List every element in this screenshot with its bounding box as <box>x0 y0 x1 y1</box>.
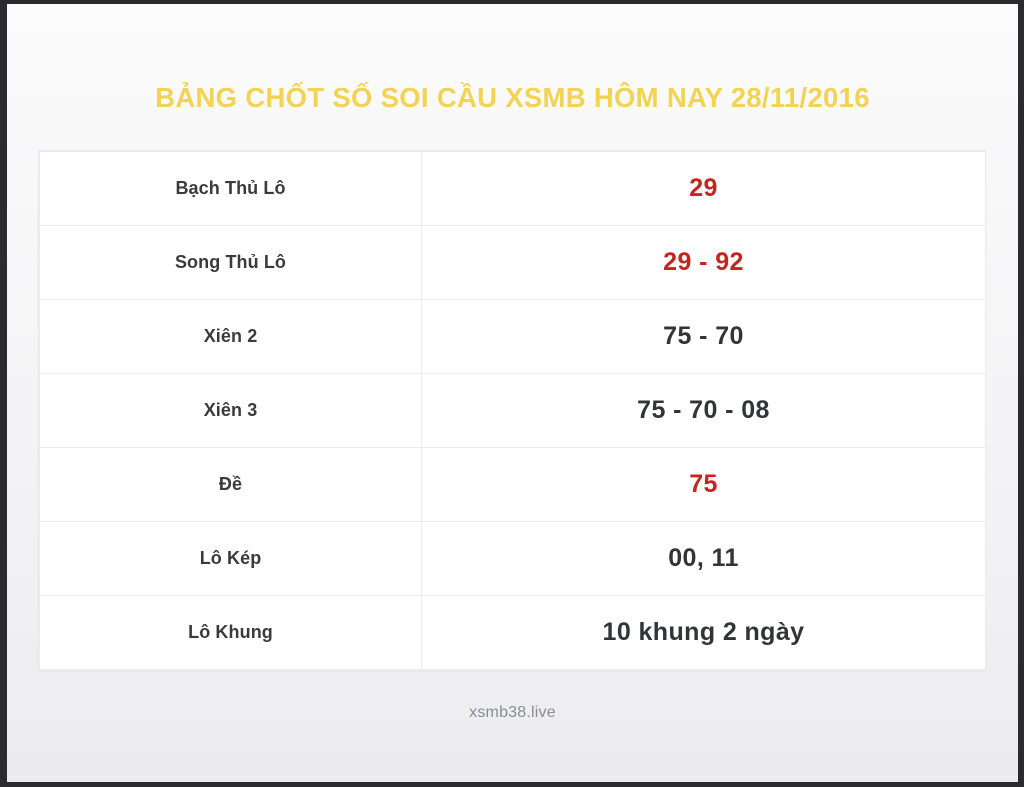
row-value: 00, 11 <box>430 544 977 573</box>
row-value-cell: 75 - 70 <box>422 300 986 374</box>
page-canvas: BẢNG CHỐT SỐ SOI CẦU XSMB HÔM NAY 28/11/… <box>7 4 1018 782</box>
row-label: Lô Khung <box>48 622 413 643</box>
table-row: Đề75 <box>40 448 986 522</box>
table-row: Bạch Thủ Lô29 <box>40 152 986 226</box>
row-label: Lô Kép <box>48 548 413 569</box>
prediction-table: Bạch Thủ Lô29Song Thủ Lô29 - 92Xiên 275 … <box>39 151 986 670</box>
row-label: Xiên 3 <box>48 400 413 421</box>
row-value: 29 - 92 <box>430 248 977 277</box>
page-title: BẢNG CHỐT SỐ SOI CẦU XSMB HÔM NAY 28/11/… <box>155 82 870 114</box>
row-value-cell: 75 - 70 - 08 <box>422 374 986 448</box>
row-label-cell: Song Thủ Lô <box>40 226 422 300</box>
row-label-cell: Lô Khung <box>40 596 422 670</box>
table-row: Lô Khung10 khung 2 ngày <box>40 596 986 670</box>
row-value-cell: 29 <box>422 152 986 226</box>
row-value-cell: 00, 11 <box>422 522 986 596</box>
table-row: Lô Kép00, 11 <box>40 522 986 596</box>
row-label-cell: Xiên 2 <box>40 300 422 374</box>
table-row: Xiên 275 - 70 <box>40 300 986 374</box>
site-watermark: xsmb38.live <box>469 704 556 721</box>
row-label-cell: Bạch Thủ Lô <box>40 152 422 226</box>
row-label-cell: Đề <box>40 448 422 522</box>
table-row: Xiên 375 - 70 - 08 <box>40 374 986 448</box>
row-value-cell: 10 khung 2 ngày <box>422 596 986 670</box>
row-label: Bạch Thủ Lô <box>48 178 413 199</box>
row-value: 10 khung 2 ngày <box>430 618 977 647</box>
footer: xsmb38.live <box>7 704 1018 722</box>
prediction-table-card: Bạch Thủ Lô29Song Thủ Lô29 - 92Xiên 275 … <box>38 150 986 671</box>
image-frame: BẢNG CHỐT SỐ SOI CẦU XSMB HÔM NAY 28/11/… <box>0 0 1024 787</box>
row-value-cell: 75 <box>422 448 986 522</box>
row-label: Xiên 2 <box>48 326 413 347</box>
table-row: Song Thủ Lô29 - 92 <box>40 226 986 300</box>
row-label: Song Thủ Lô <box>48 252 413 273</box>
page-title-container: BẢNG CHỐT SỐ SOI CẦU XSMB HÔM NAY 28/11/… <box>7 82 1018 114</box>
row-label-cell: Lô Kép <box>40 522 422 596</box>
row-label: Đề <box>48 474 413 495</box>
prediction-table-body: Bạch Thủ Lô29Song Thủ Lô29 - 92Xiên 275 … <box>40 152 986 670</box>
row-value-cell: 29 - 92 <box>422 226 986 300</box>
row-value: 75 - 70 - 08 <box>430 396 977 425</box>
row-value: 29 <box>430 174 977 203</box>
row-value: 75 - 70 <box>430 322 977 351</box>
row-label-cell: Xiên 3 <box>40 374 422 448</box>
row-value: 75 <box>430 470 977 499</box>
